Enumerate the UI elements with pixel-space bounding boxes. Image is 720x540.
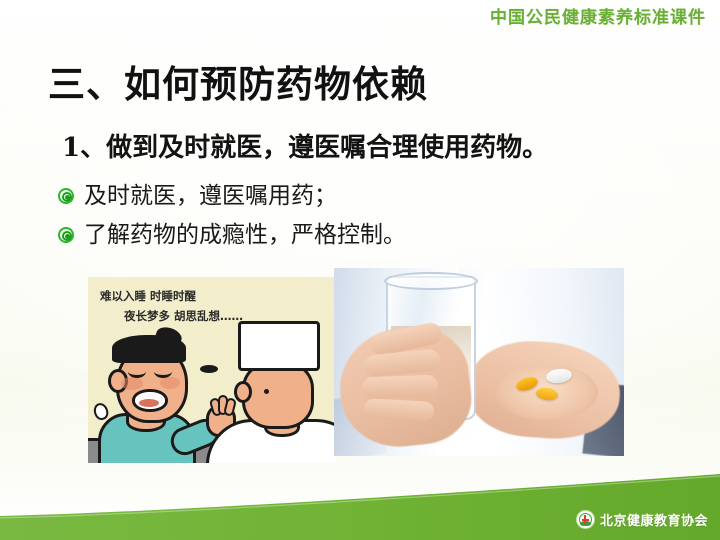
page-title: 三、如何预防药物依赖 [48, 64, 428, 105]
doctor-cap [238, 321, 320, 371]
slide-canvas: 中国公民健康素养标准课件 三、如何预防药物依赖 1、做到及时就医，遵医嘱合理使用… [0, 0, 720, 540]
patient-doctor-cartoon: 难以入睡 时睡时醒 夜长梦多 胡思乱想…… [88, 277, 336, 463]
speech-dots [200, 365, 218, 373]
ring-bullet-icon [58, 188, 76, 206]
organization-name: 北京健康教育协会 [600, 510, 708, 529]
bullet-text: 了解药物的成瘾性，严格控制。 [84, 221, 406, 250]
association-logo-icon [577, 511, 594, 528]
patient-cheek-right [160, 377, 180, 389]
hands-water-glass-pills-photo [334, 268, 624, 456]
list-item: 了解药物的成瘾性，严格控制。 [58, 221, 658, 250]
footer-branding: 北京健康教育协会 [577, 510, 708, 529]
patient-eye-right [154, 365, 172, 378]
patient-hair [112, 335, 186, 363]
list-item: 及时就医，遵医嘱用药； [58, 182, 658, 211]
doctor-ear [234, 381, 252, 403]
bullet-list: 及时就医，遵医嘱用药； 了解药物的成瘾性，严格控制。 [58, 182, 658, 260]
patient-eye-left [128, 365, 146, 378]
glass-rim [384, 272, 478, 290]
patient-mouth [132, 389, 168, 412]
ring-bullet-icon [58, 227, 76, 245]
slide-header: 中国公民健康素养标准课件 [0, 0, 720, 30]
cartoon-caption-line1: 难以入睡 时睡时醒 [100, 289, 196, 303]
bullet-text: 及时就医，遵医嘱用药； [84, 182, 337, 211]
section-subtitle: 1、做到及时就医，遵医嘱合理使用药物。 [62, 134, 548, 164]
finger-4 [364, 398, 435, 422]
course-series-title: 中国公民健康素养标准课件 [490, 3, 706, 28]
finger-3 [362, 375, 439, 400]
doctor-mole [264, 389, 269, 394]
doctor-head [242, 361, 314, 429]
patient-cheek-left [121, 377, 143, 390]
